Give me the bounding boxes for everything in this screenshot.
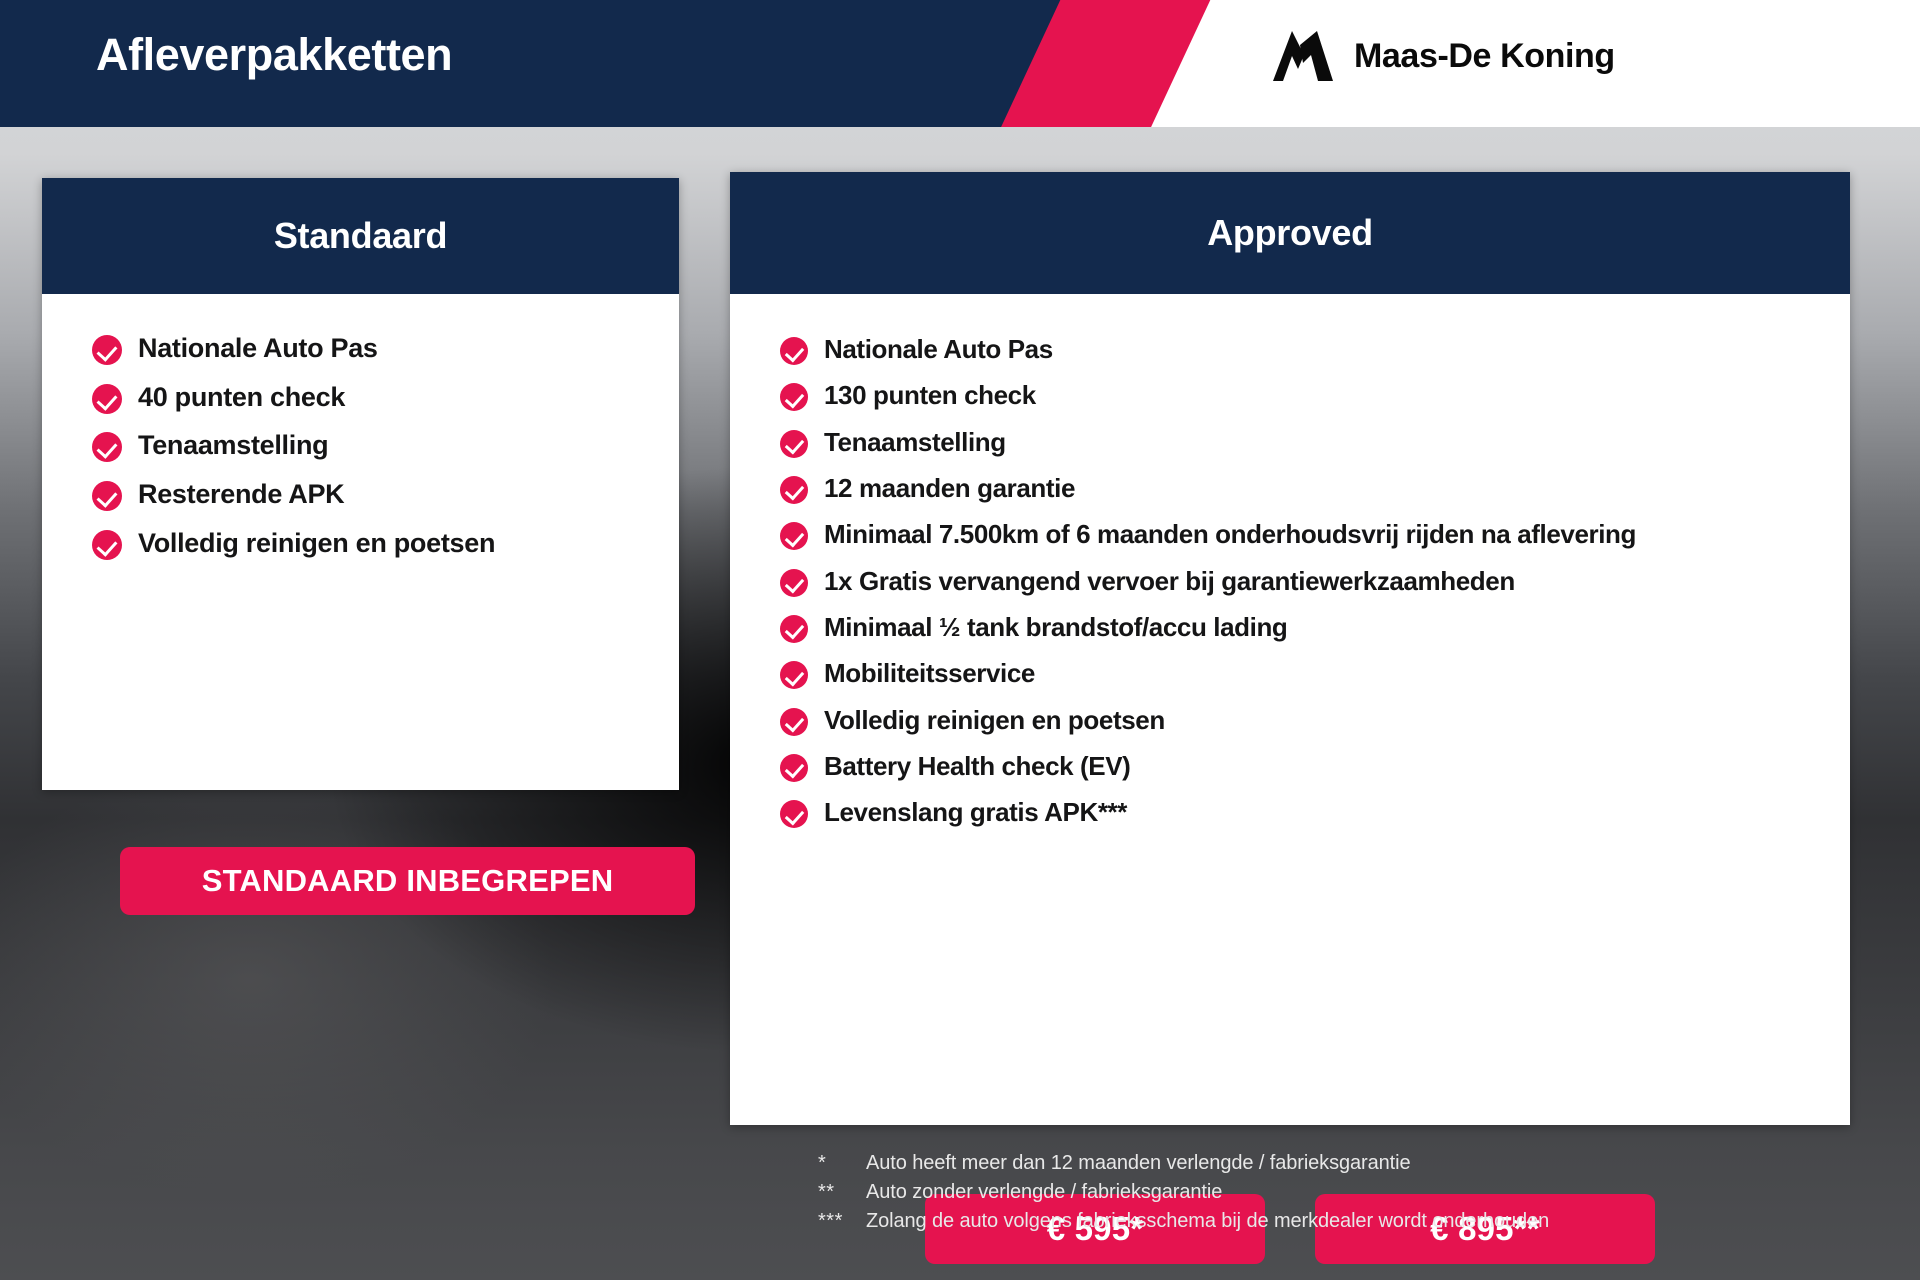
list-item: Volledig reinigen en poetsen bbox=[780, 703, 1850, 737]
feature-label: Tenaamstelling bbox=[138, 428, 328, 464]
approved-feature-list: Nationale Auto Pas 130 punten check Tena… bbox=[780, 332, 1850, 829]
list-item: Battery Health check (EV) bbox=[780, 749, 1850, 783]
check-circle-icon bbox=[780, 569, 808, 597]
feature-label: 40 punten check bbox=[138, 380, 345, 416]
footnote-row: * Auto heeft meer dan 12 maanden verleng… bbox=[818, 1152, 1549, 1175]
list-item: Mobiliteitsservice bbox=[780, 656, 1850, 690]
check-circle-icon bbox=[780, 754, 808, 782]
feature-label: Tenaamstelling bbox=[824, 425, 1006, 459]
check-circle-icon bbox=[92, 432, 122, 462]
check-circle-icon bbox=[780, 476, 808, 504]
standaard-included-button[interactable]: STANDAARD INBEGREPEN bbox=[120, 847, 695, 915]
maas-de-koning-m-logo-icon bbox=[1270, 25, 1336, 87]
check-circle-icon bbox=[780, 800, 808, 828]
check-circle-icon bbox=[780, 661, 808, 689]
list-item: Tenaamstelling bbox=[92, 428, 679, 464]
approved-package-card: Approved Nationale Auto Pas 130 punten c… bbox=[730, 172, 1850, 1125]
check-circle-icon bbox=[780, 615, 808, 643]
feature-label: Levenslang gratis APK*** bbox=[824, 795, 1127, 829]
feature-label: Minimaal ½ tank brandstof/accu lading bbox=[824, 610, 1287, 644]
feature-label: 1x Gratis vervangend vervoer bij garanti… bbox=[824, 564, 1515, 598]
list-item: Minimaal 7.500km of 6 maanden onderhouds… bbox=[780, 517, 1850, 551]
check-circle-icon bbox=[92, 335, 122, 365]
standaard-package-card: Standaard Nationale Auto Pas 40 punten c… bbox=[42, 178, 679, 790]
list-item: 12 maanden garantie bbox=[780, 471, 1850, 505]
list-item: Volledig reinigen en poetsen bbox=[92, 526, 679, 562]
brand-name: Maas-De Koning bbox=[1354, 37, 1615, 76]
feature-label: Nationale Auto Pas bbox=[138, 331, 378, 367]
footnote-text: Auto zonder verlengde / fabrieksgarantie bbox=[866, 1181, 1222, 1204]
list-item: Tenaamstelling bbox=[780, 425, 1850, 459]
list-item: 40 punten check bbox=[92, 380, 679, 416]
check-circle-icon bbox=[780, 430, 808, 458]
page-header: Afleverpakketten Maas-De Koning bbox=[0, 0, 1920, 127]
standaard-card-header: Standaard bbox=[42, 178, 679, 294]
footnotes-block: * Auto heeft meer dan 12 maanden verleng… bbox=[818, 1152, 1549, 1239]
check-circle-icon bbox=[92, 530, 122, 560]
feature-label: 130 punten check bbox=[824, 378, 1036, 412]
footnote-marker: ** bbox=[818, 1181, 866, 1204]
list-item: Nationale Auto Pas bbox=[92, 331, 679, 367]
feature-label: Volledig reinigen en poetsen bbox=[824, 703, 1165, 737]
check-circle-icon bbox=[780, 522, 808, 550]
footnote-marker: *** bbox=[818, 1210, 866, 1233]
approved-card-title: Approved bbox=[1207, 212, 1373, 254]
feature-label: 12 maanden garantie bbox=[824, 471, 1075, 505]
check-circle-icon bbox=[92, 481, 122, 511]
approved-card-header: Approved bbox=[730, 172, 1850, 294]
feature-label: Battery Health check (EV) bbox=[824, 749, 1130, 783]
check-circle-icon bbox=[780, 708, 808, 736]
list-item: Resterende APK bbox=[92, 477, 679, 513]
footnote-row: ** Auto zonder verlengde / fabrieksgaran… bbox=[818, 1181, 1549, 1204]
standaard-feature-list: Nationale Auto Pas 40 punten check Tenaa… bbox=[92, 331, 679, 561]
page-title: Afleverpakketten bbox=[96, 29, 452, 81]
footnote-marker: * bbox=[818, 1152, 866, 1175]
check-circle-icon bbox=[92, 384, 122, 414]
feature-label: Minimaal 7.500km of 6 maanden onderhouds… bbox=[824, 517, 1636, 551]
check-circle-icon bbox=[780, 383, 808, 411]
feature-label: Mobiliteitsservice bbox=[824, 656, 1035, 690]
poster-canvas: Afleverpakketten Maas-De Koning Standaar… bbox=[0, 0, 1920, 1280]
feature-label: Resterende APK bbox=[138, 477, 344, 513]
brand-logo: Maas-De Koning bbox=[1270, 25, 1615, 87]
check-circle-icon bbox=[780, 337, 808, 365]
feature-label: Nationale Auto Pas bbox=[824, 332, 1053, 366]
list-item: Minimaal ½ tank brandstof/accu lading bbox=[780, 610, 1850, 644]
list-item: Nationale Auto Pas bbox=[780, 332, 1850, 366]
list-item: 130 punten check bbox=[780, 378, 1850, 412]
feature-label: Volledig reinigen en poetsen bbox=[138, 526, 495, 562]
list-item: Levenslang gratis APK*** bbox=[780, 795, 1850, 829]
standaard-card-title: Standaard bbox=[274, 215, 447, 257]
footnote-row: *** Zolang de auto volgens fabrieksschem… bbox=[818, 1210, 1549, 1233]
footnote-text: Zolang de auto volgens fabrieksschema bi… bbox=[866, 1210, 1549, 1233]
footnote-text: Auto heeft meer dan 12 maanden verlengde… bbox=[866, 1152, 1410, 1175]
list-item: 1x Gratis vervangend vervoer bij garanti… bbox=[780, 564, 1850, 598]
